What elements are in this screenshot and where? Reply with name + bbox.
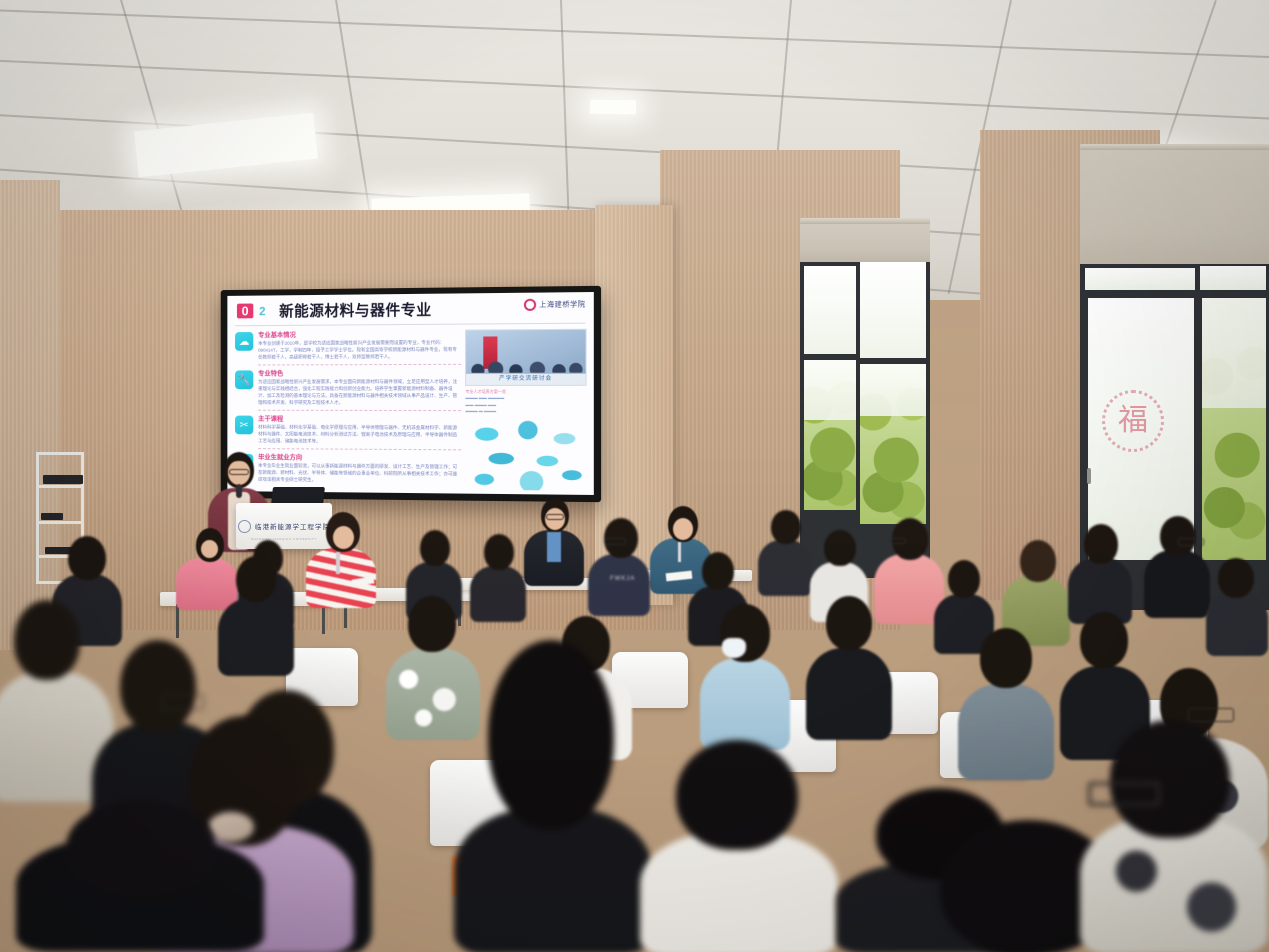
face-mask (722, 638, 746, 658)
window-handle[interactable] (1087, 468, 1091, 484)
audience-member (1144, 516, 1212, 616)
university-ring-logo-icon (524, 299, 536, 311)
photo-audience (466, 348, 585, 373)
slide-section: ☁ 专业基本情况 本专业创建于2010年，是学校为适应国家战略性新兴产业发展需要… (235, 328, 461, 361)
audience-member (758, 510, 814, 594)
foreground-audience-member (454, 640, 654, 952)
section-heading: 毕业生就业方向 (258, 451, 461, 462)
audience-member (806, 596, 894, 736)
audience-member-striped (306, 512, 378, 608)
presenter-glasses (229, 469, 249, 475)
section-body: 本专业毕业生就业面较宽，可以从事新能源材料与器件方面的研发、设计工艺、生产及管理… (258, 462, 461, 485)
audience-member: FWKJA (588, 518, 652, 614)
section-body: 为适应国家战略性新兴产业发展需求，本专业面向新能源材料与器件领域，立足应用型人才… (258, 378, 461, 407)
slide-section: ✂ 主干课程 材料科学基础、材料化学基础、电化学原理与应用、半导体物理与器件、无… (235, 412, 461, 445)
section-heading: 专业基本情况 (258, 328, 461, 339)
presentation-slide: 0 2 新能源材料与器件专业 上海建桥学院 ☁ 专业基本情况 本专业创建于201… (227, 292, 593, 495)
section-heading: 专业特色 (258, 367, 461, 377)
slide-number-accent: 2 (259, 304, 265, 318)
section-body: 本专业创建于2010年，是学校为适应国家战略性新兴产业发展需要而设置的专业，专业… (258, 339, 461, 361)
shelf-item (43, 475, 83, 484)
tools-icon: ✂ (235, 415, 253, 434)
section-heading: 主干课程 (258, 412, 461, 422)
roller-blind (1080, 150, 1269, 268)
wall-display: 0 2 新能源材料与器件专业 上海建桥学院 ☁ 专业基本情况 本专业创建于201… (221, 286, 601, 502)
photo-caption: 产学研交流研讨会 (466, 374, 585, 385)
audience-member-grayblue (958, 628, 1056, 776)
slide-title: 新能源材料与器件专业 (279, 299, 432, 321)
slide-header: 0 2 新能源材料与器件专业 上海建桥学院 (227, 292, 593, 324)
shelf-item (41, 513, 63, 520)
conference-photo: 产学研交流研讨会 (465, 329, 586, 386)
slide-section: 🔧 专业特色 为适应国家战略性新兴产业发展需求，本专业面向新能源材料与器件领域，… (235, 367, 461, 407)
audience-member (1206, 558, 1269, 654)
audience-member-mask (700, 604, 792, 746)
university-logo: 上海建桥学院 (524, 298, 586, 311)
audience-member (1068, 524, 1134, 622)
curriculum-mini-table: 专业人才培养方案一览 ▬▬▬ ▬▬ ▬▬▬▬ ▬▬ ▬▬▬ ▬▬ ▬▬▬ ▬ ▬… (465, 389, 586, 415)
foreground-audience-member (640, 740, 840, 952)
university-name: 上海建桥学院 (539, 299, 585, 310)
section-body: 材料科学基础、材料化学基础、电化学原理与应用、半导体物理与器件、无机非金属材料学… (258, 423, 461, 445)
slide-body: ☁ 专业基本情况 本专业创建于2010年，是学校为适应国家战略性新兴产业发展需要… (227, 326, 593, 495)
audience-member-suit (524, 498, 586, 584)
slide-right-column: 产学研交流研讨会 专业人才培养方案一览 ▬▬▬ ▬▬ ▬▬▬▬ ▬▬ ▬▬▬ ▬… (465, 327, 586, 491)
wrench-icon: 🔧 (235, 370, 253, 389)
new-energy-application-bubble-diagram (465, 420, 586, 491)
dress-shirt (547, 532, 561, 562)
classroom-photo-scene: 福 0 2 新能源材料与器件专业 上海建桥学院 ☁ 专 (0, 0, 1269, 952)
eyeglasses (1088, 782, 1160, 806)
foreground-audience-member (16, 800, 266, 952)
microphone-icon (236, 484, 242, 498)
slide-number-badge: 0 (237, 304, 253, 319)
ceiling-light (590, 100, 636, 115)
foreground-audience-member-glasses (1080, 720, 1269, 952)
fu-window-sticker: 福 (1102, 390, 1164, 452)
cloud-download-icon: ☁ (235, 332, 253, 351)
